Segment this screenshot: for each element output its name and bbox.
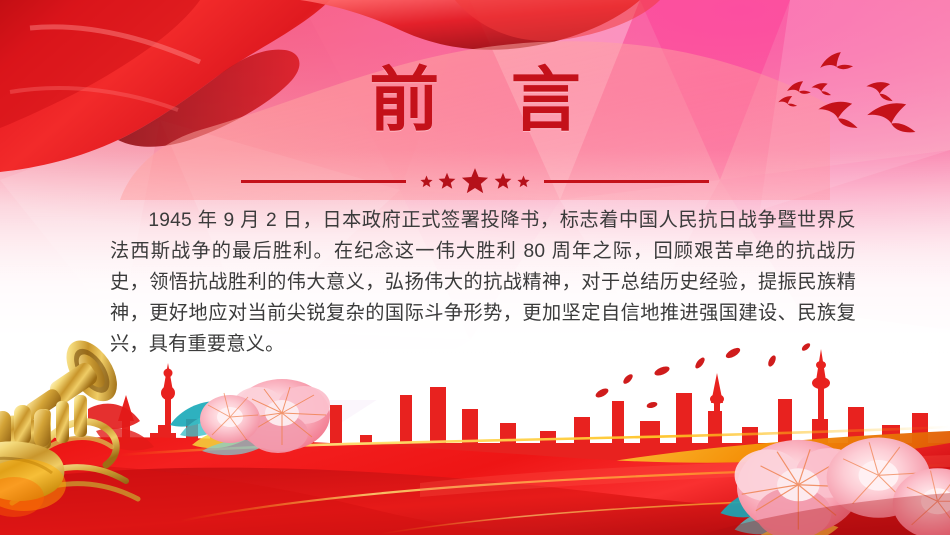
- petal-icon: [646, 401, 658, 409]
- star-group: [420, 167, 530, 195]
- star-divider: [0, 168, 950, 194]
- star-icon-5: [517, 175, 530, 188]
- divider-line-left: [241, 180, 406, 183]
- petal-icon: [622, 373, 635, 386]
- bottom-scenery: [0, 335, 950, 535]
- pink-peony-left: [170, 379, 330, 455]
- star-icon-1: [420, 175, 433, 188]
- petal-icon: [724, 346, 741, 360]
- slide-canvas: 前 言 1945 年 9 月 2 日，日本政府正式签署投降书，标志着中国人民抗日…: [0, 0, 950, 535]
- petal-icon: [800, 342, 811, 352]
- petal-icon: [694, 356, 707, 370]
- petal-icon: [653, 365, 671, 378]
- petal-icon: [767, 354, 778, 367]
- star-icon-2: [438, 172, 456, 190]
- star-icon-3: [461, 167, 489, 195]
- petal-icon: [594, 387, 610, 400]
- star-icon-4: [494, 172, 512, 190]
- falling-red-petals: [594, 342, 811, 409]
- trumpet-valve: [56, 401, 69, 443]
- title-block: 前 言: [0, 62, 950, 138]
- page-title: 前 言: [0, 62, 950, 138]
- divider-line-right: [544, 180, 709, 183]
- trumpet-valve: [74, 395, 87, 437]
